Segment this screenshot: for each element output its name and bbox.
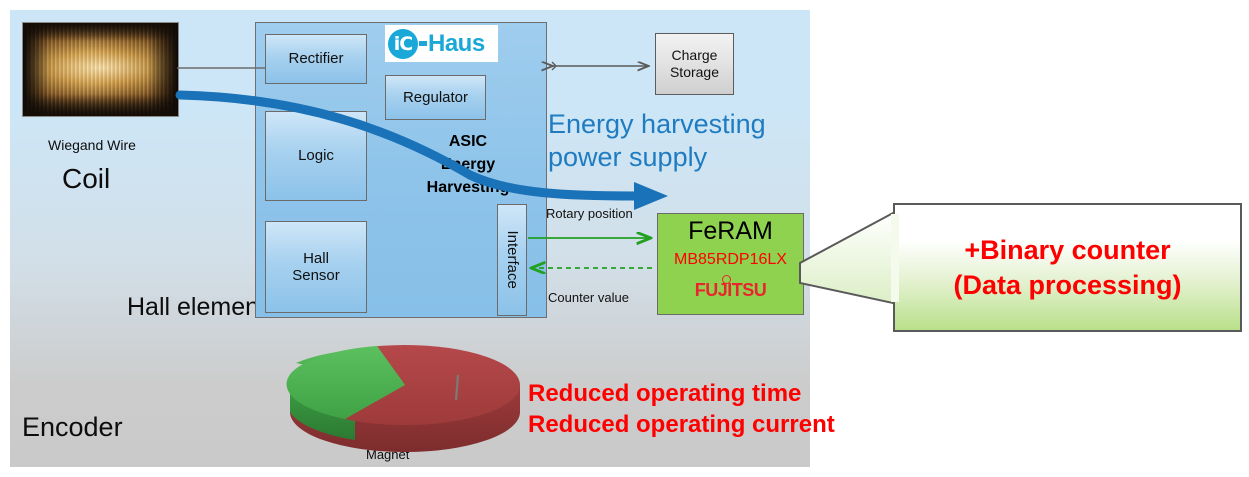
charge-storage-label: Charge Storage — [670, 47, 719, 81]
fujitsu-wordmark: FUJITSU — [695, 280, 767, 301]
hall-sensor-label: Hall Sensor — [292, 250, 340, 285]
ichaus-dash-icon — [419, 41, 427, 46]
fujitsu-logo: FUJITSU — [658, 280, 803, 301]
reduced-line1: Reduced operating time — [528, 379, 835, 410]
ichaus-wordmark: Haus — [428, 30, 485, 58]
energy-harvesting-annotation: Energy harvesting power supply — [548, 108, 828, 174]
reduced-line2: Reduced operating current — [528, 410, 835, 441]
binary-counter-callout: +Binary counter (Data processing) — [893, 203, 1242, 332]
hall-element-label: Hall element — [127, 293, 266, 322]
coil-shadow-top — [23, 23, 178, 41]
callout-text: +Binary counter (Data processing) — [895, 233, 1240, 303]
ichaus-circle-icon: iC — [388, 29, 418, 59]
coil-label: Coil — [62, 163, 110, 195]
fujitsu-dot-icon — [722, 275, 731, 284]
reduced-operation-annotation: Reduced operating time Reduced operating… — [528, 379, 835, 440]
energy-annotation-line1: Energy harvesting — [548, 108, 828, 141]
fujitsu-text: FUJITSU — [695, 280, 767, 300]
ichaus-logo: iC Haus — [385, 25, 498, 62]
hall-sensor-line1: Hall — [303, 250, 329, 267]
asic-title: ASIC Energy Harvesting — [398, 130, 538, 200]
hall-sensor-block: Hall Sensor — [265, 221, 367, 313]
diagram-canvas: Wiegand Wire Coil Hall element Encoder M… — [0, 0, 1249, 477]
feram-title: FeRAM — [658, 217, 803, 246]
encoder-label: Encoder — [22, 412, 123, 443]
wiegand-coil-photo — [22, 22, 179, 117]
feram-part-number: MB85RDP16LX — [658, 251, 803, 269]
rectifier-block: Rectifier — [265, 34, 367, 84]
callout-line2: (Data processing) — [895, 268, 1240, 303]
asic-title-line1: ASIC — [398, 130, 538, 153]
energy-annotation-line2: power supply — [548, 141, 828, 174]
hall-sensor-line2: Sensor — [292, 267, 340, 284]
interface-block: Interface — [497, 204, 527, 316]
callout-pointer — [800, 213, 893, 303]
counter-value-label: Counter value — [548, 290, 629, 305]
rotary-position-label: Rotary position — [546, 206, 633, 221]
charge-storage-line2: Storage — [670, 64, 719, 80]
feram-block: FeRAM MB85RDP16LX FUJITSU — [657, 213, 804, 315]
interface-label: Interface — [503, 231, 520, 289]
logic-block: Logic — [265, 111, 367, 201]
charge-storage-line1: Charge — [672, 47, 718, 63]
charge-storage-block: Charge Storage — [655, 33, 734, 95]
asic-title-line3: Harvesting — [398, 176, 538, 199]
asic-title-line2: Energy — [398, 153, 538, 176]
callout-line1: +Binary counter — [895, 233, 1240, 268]
coil-shadow-bottom — [23, 94, 178, 116]
regulator-block: Regulator — [385, 75, 486, 120]
magnet-label: Magnet — [366, 447, 409, 462]
wiegand-wire-label: Wiegand Wire — [48, 137, 136, 153]
